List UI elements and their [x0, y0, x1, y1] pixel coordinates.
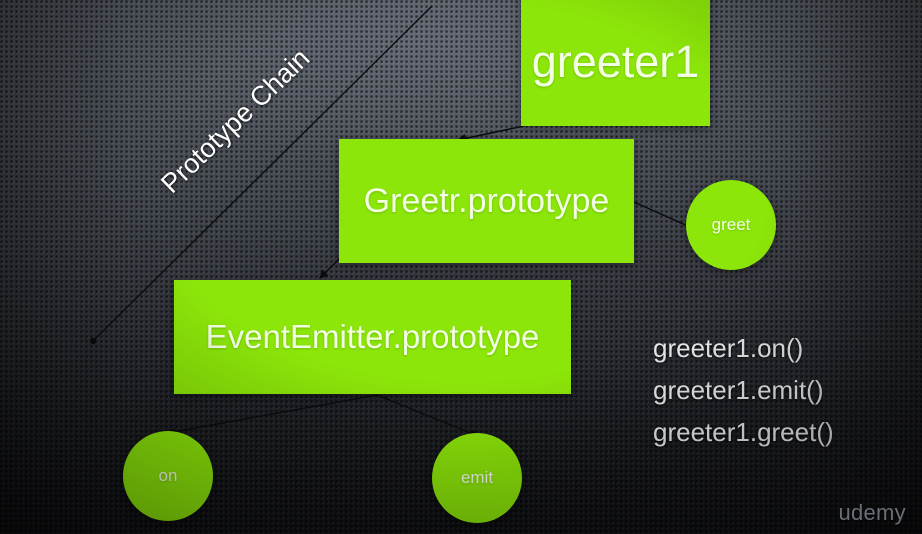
node-greeter1-label: greeter1 [532, 24, 700, 88]
node-greetr-prototype[interactable]: Greetr.prototype [339, 139, 634, 263]
slide-canvas: Prototype Chain greeter1 Greetr.prototyp… [0, 0, 922, 534]
node-on[interactable]: on [123, 431, 213, 521]
node-greet-label: greet [712, 215, 751, 235]
node-emit[interactable]: emit [432, 433, 522, 523]
udemy-watermark: udemy [838, 500, 906, 526]
node-eventemitter-prototype-label: EventEmitter.prototype [206, 318, 540, 356]
node-greet[interactable]: greet [686, 180, 776, 270]
node-emit-label: emit [461, 468, 493, 488]
call-item-on: greeter1.on() [653, 333, 834, 364]
node-greetr-prototype-label: Greetr.prototype [364, 182, 610, 221]
node-greeter1[interactable]: greeter1 [521, 0, 710, 126]
call-item-emit: greeter1.emit() [653, 375, 834, 406]
node-on-label: on [159, 466, 178, 486]
node-eventemitter-prototype[interactable]: EventEmitter.prototype [174, 280, 571, 394]
call-item-greet: greeter1.greet() [653, 417, 834, 448]
method-call-list: greeter1.on() greeter1.emit() greeter1.g… [653, 333, 834, 448]
